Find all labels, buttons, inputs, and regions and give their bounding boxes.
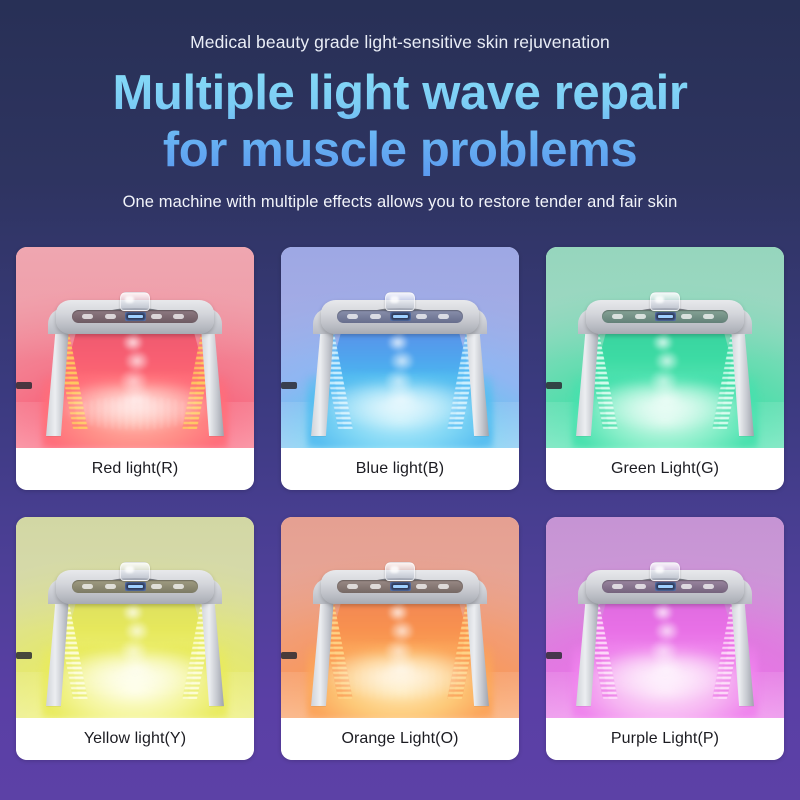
- control-panel[interactable]: [72, 580, 198, 593]
- card-label-yellow: Yellow light(Y): [16, 718, 254, 760]
- panel-indicator-4: [173, 314, 184, 319]
- card-label-blue: Blue light(B): [281, 448, 519, 490]
- promo-page: Medical beauty grade light-sensitive ski…: [0, 0, 800, 800]
- product-photo: [281, 517, 519, 718]
- card-label-purple: Purple Light(P): [546, 718, 784, 760]
- panel-display: [655, 312, 676, 321]
- light-mode-gallery: Red light(R): [16, 247, 784, 760]
- eyebrow-text: Medical beauty grade light-sensitive ski…: [0, 32, 800, 53]
- product-photo: [16, 517, 254, 718]
- light-mode-card-red[interactable]: Red light(R): [16, 247, 254, 490]
- control-panel[interactable]: [602, 310, 728, 323]
- steam-base-cloud: [590, 654, 740, 700]
- water-tank-cap: [385, 292, 415, 311]
- light-mode-card-purple[interactable]: Purple Light(P): [546, 517, 784, 760]
- panel-indicator-1: [347, 584, 358, 589]
- panel-indicator-2: [105, 584, 116, 589]
- control-panel[interactable]: [72, 310, 198, 323]
- light-mode-card-orange[interactable]: Orange Light(O): [281, 517, 519, 760]
- panel-display: [655, 582, 676, 591]
- product-photo: [546, 247, 784, 448]
- panel-indicator-2: [635, 314, 646, 319]
- card-label-orange: Orange Light(O): [281, 718, 519, 760]
- panel-indicator-3: [681, 314, 692, 319]
- headline-line-1: Multiple light wave repair: [113, 66, 688, 120]
- header: Medical beauty grade light-sensitive ski…: [0, 0, 800, 212]
- water-tank-cap: [120, 562, 150, 581]
- panel-indicator-1: [612, 314, 623, 319]
- light-mode-card-green[interactable]: Green Light(G): [546, 247, 784, 490]
- panel-indicator-3: [151, 584, 162, 589]
- panel-display: [125, 582, 146, 591]
- panel-display: [390, 582, 411, 591]
- led-therapy-device: [16, 517, 254, 718]
- steam-base-cloud: [60, 384, 210, 430]
- panel-indicator-4: [703, 314, 714, 319]
- panel-indicator-3: [416, 314, 427, 319]
- panel-indicator-1: [82, 584, 93, 589]
- page-title: Multiple light wave repair for muscle pr…: [0, 65, 800, 179]
- panel-indicator-4: [438, 584, 449, 589]
- card-label-green: Green Light(G): [546, 448, 784, 490]
- panel-indicator-2: [370, 314, 381, 319]
- led-therapy-device: [281, 247, 519, 448]
- led-therapy-device: [546, 247, 784, 448]
- panel-indicator-3: [681, 584, 692, 589]
- steam-base-cloud: [325, 654, 475, 700]
- panel-indicator-4: [438, 314, 449, 319]
- headline-line-2: for muscle problems: [0, 122, 800, 179]
- panel-indicator-2: [105, 314, 116, 319]
- light-mode-card-yellow[interactable]: Yellow light(Y): [16, 517, 254, 760]
- water-tank-cap: [650, 562, 680, 581]
- card-label-red: Red light(R): [16, 448, 254, 490]
- control-panel[interactable]: [337, 580, 463, 593]
- panel-indicator-4: [703, 584, 714, 589]
- water-tank-cap: [120, 292, 150, 311]
- water-tank-cap: [385, 562, 415, 581]
- control-panel[interactable]: [337, 310, 463, 323]
- control-panel[interactable]: [602, 580, 728, 593]
- led-therapy-device: [281, 517, 519, 718]
- panel-indicator-1: [612, 584, 623, 589]
- panel-indicator-3: [416, 584, 427, 589]
- panel-indicator-2: [635, 584, 646, 589]
- water-tank-cap: [650, 292, 680, 311]
- panel-display: [390, 312, 411, 321]
- steam-base-cloud: [325, 384, 475, 430]
- panel-indicator-2: [370, 584, 381, 589]
- steam-base-cloud: [60, 654, 210, 700]
- product-photo: [546, 517, 784, 718]
- steam-base-cloud: [590, 384, 740, 430]
- led-therapy-device: [16, 247, 254, 448]
- led-therapy-device: [546, 517, 784, 718]
- panel-display: [125, 312, 146, 321]
- tagline-text: One machine with multiple effects allows…: [0, 193, 800, 212]
- panel-indicator-1: [347, 314, 358, 319]
- panel-indicator-4: [173, 584, 184, 589]
- light-mode-card-blue[interactable]: Blue light(B): [281, 247, 519, 490]
- panel-indicator-3: [151, 314, 162, 319]
- product-photo: [16, 247, 254, 448]
- product-photo: [281, 247, 519, 448]
- panel-indicator-1: [82, 314, 93, 319]
